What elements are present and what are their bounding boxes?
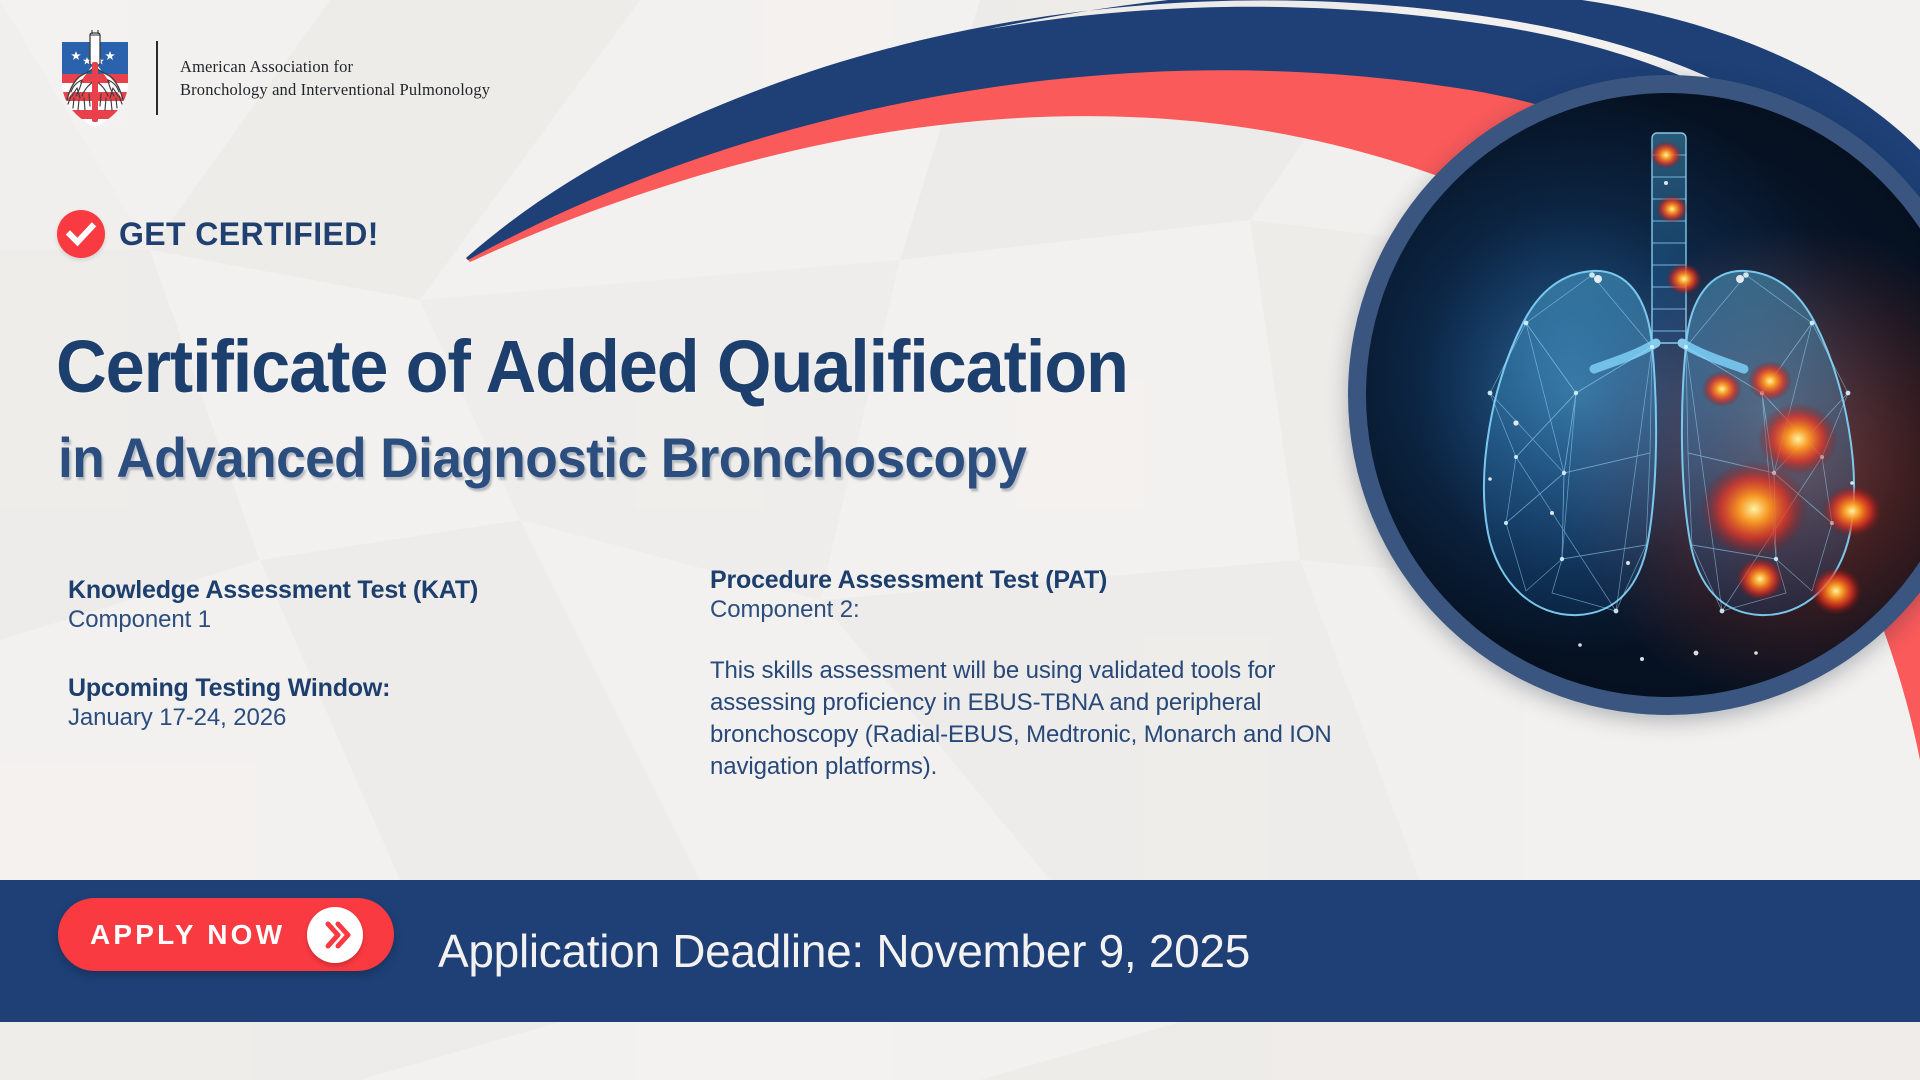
pat-component-label: Component 2:	[710, 595, 1350, 625]
lung-image-circle	[1348, 75, 1920, 715]
promo-banner: American Association for Bronchology and…	[0, 0, 1920, 1080]
pat-component-block: Procedure Assessment Test (PAT) Componen…	[710, 565, 1350, 783]
kat-title: Knowledge Assessment Test (KAT)	[68, 575, 568, 605]
apply-now-button[interactable]: APPLY NOW	[58, 898, 394, 971]
double-chevron-right-icon	[307, 907, 363, 963]
page-title: Certificate of Added Qualification	[56, 330, 1128, 404]
testing-window-dates: January 17-24, 2026	[68, 703, 568, 733]
aabip-lung-shield-logo-icon	[52, 26, 138, 130]
lung-wireframe-illustration	[1366, 93, 1920, 697]
testing-window-title: Upcoming Testing Window:	[68, 673, 568, 703]
check-circle-icon	[57, 210, 105, 258]
kat-component-block: Knowledge Assessment Test (KAT) Componen…	[68, 575, 568, 733]
footer-bar: APPLY NOW Application Deadline: November…	[0, 880, 1920, 1022]
column-spacer	[68, 635, 568, 673]
organization-name-line2: Bronchology and Interventional Pulmonolo…	[180, 78, 490, 101]
pat-title: Procedure Assessment Test (PAT)	[710, 565, 1350, 595]
organization-name: American Association for Bronchology and…	[180, 55, 490, 102]
application-deadline-text: Application Deadline: November 9, 2025	[438, 880, 1250, 1022]
get-certified-eyebrow: GET CERTIFIED!	[57, 210, 379, 258]
lung-image-inner	[1366, 93, 1920, 697]
kat-component-label: Component 1	[68, 605, 568, 635]
pat-description: This skills assessment will be using val…	[710, 655, 1350, 783]
page-subtitle: in Advanced Diagnostic Bronchoscopy	[58, 430, 1026, 486]
organization-name-line1: American Association for	[180, 55, 490, 78]
get-certified-label: GET CERTIFIED!	[119, 216, 379, 253]
apply-now-label: APPLY NOW	[90, 919, 307, 951]
logo-divider	[156, 41, 158, 115]
brand-logo-block[interactable]: American Association for Bronchology and…	[52, 26, 490, 130]
